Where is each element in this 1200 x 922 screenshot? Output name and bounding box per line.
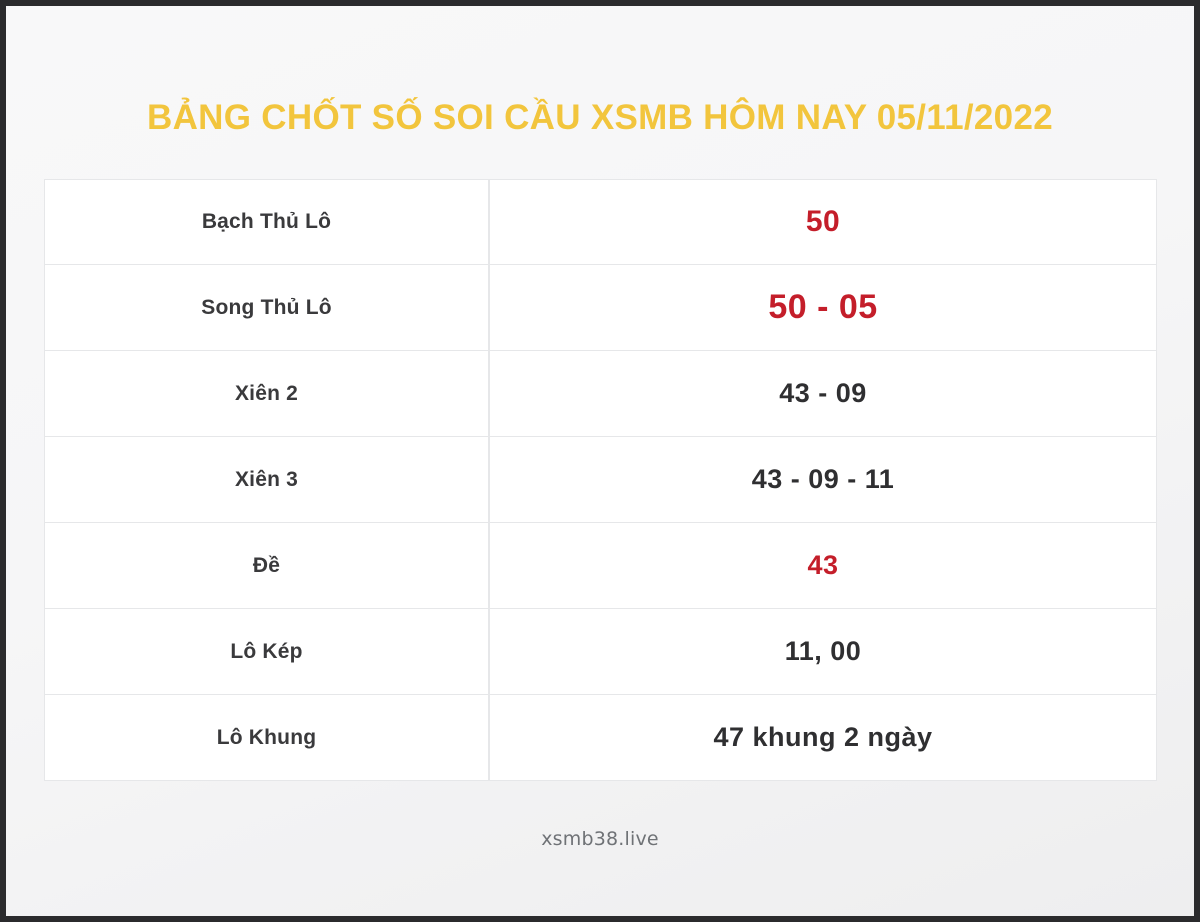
row-label-lo-khung: Lô Khung (44, 695, 489, 781)
footer-site-name: xsmb38.live (541, 828, 659, 850)
row-value-bach-thu-lo: 50 (489, 179, 1157, 265)
table-row: Song Thủ Lô 50 - 05 (44, 265, 1157, 351)
row-value-xien-2: 43 - 09 (489, 351, 1157, 437)
row-label-xien-3: Xiên 3 (44, 437, 489, 523)
row-value-lo-kep: 11, 00 (489, 609, 1157, 695)
row-label-xien-2: Xiên 2 (44, 351, 489, 437)
page-frame: BẢNG CHỐT SỐ SOI CẦU XSMB HÔM NAY 05/11/… (6, 6, 1194, 916)
row-value-lo-khung: 47 khung 2 ngày (489, 695, 1157, 781)
row-label-de: Đề (44, 523, 489, 609)
table-row: Bạch Thủ Lô 50 (44, 179, 1157, 265)
row-value-song-thu-lo: 50 - 05 (489, 265, 1157, 351)
row-value-xien-3: 43 - 09 - 11 (489, 437, 1157, 523)
row-label-song-thu-lo: Song Thủ Lô (44, 265, 489, 351)
lottery-prediction-table: Bạch Thủ Lô 50 Song Thủ Lô 50 - 05 Xiên … (44, 179, 1157, 781)
footer: xsmb38.live (6, 828, 1194, 850)
row-value-de: 43 (489, 523, 1157, 609)
table-row: Lô Khung 47 khung 2 ngày (44, 695, 1157, 781)
table-row: Lô Kép 11, 00 (44, 609, 1157, 695)
table-row: Xiên 3 43 - 09 - 11 (44, 437, 1157, 523)
table-row: Xiên 2 43 - 09 (44, 351, 1157, 437)
page-title-container: BẢNG CHỐT SỐ SOI CẦU XSMB HÔM NAY 05/11/… (6, 98, 1194, 138)
table-row: Đề 43 (44, 523, 1157, 609)
page-content: BẢNG CHỐT SỐ SOI CẦU XSMB HÔM NAY 05/11/… (6, 6, 1194, 916)
page-title: BẢNG CHỐT SỐ SOI CẦU XSMB HÔM NAY 05/11/… (147, 98, 1053, 138)
row-label-bach-thu-lo: Bạch Thủ Lô (44, 179, 489, 265)
table-body: Bạch Thủ Lô 50 Song Thủ Lô 50 - 05 Xiên … (44, 179, 1157, 781)
row-label-lo-kep: Lô Kép (44, 609, 489, 695)
